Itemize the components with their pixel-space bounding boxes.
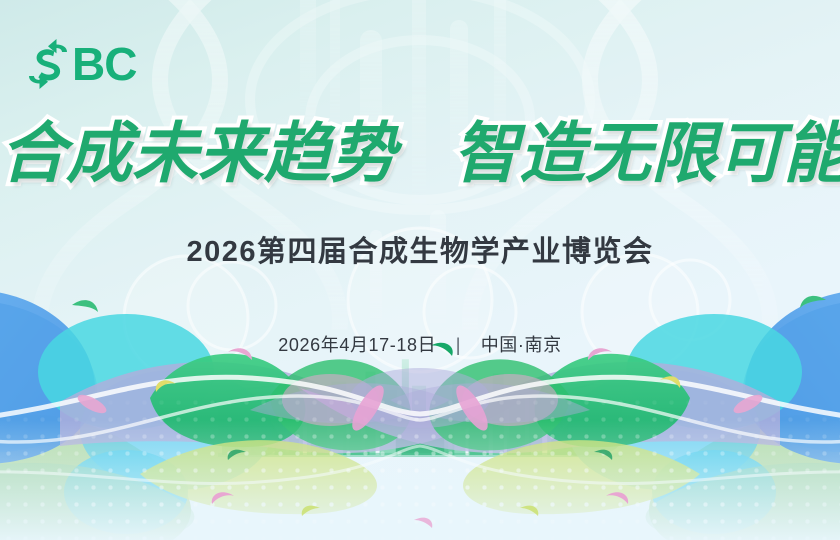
sbc-recycle-s-icon [26, 38, 70, 90]
event-dateline: 2026年4月17-18日 | 中国·南京 [0, 331, 840, 357]
page-title: 2026第四届合成生物学产业博览会 [0, 228, 840, 270]
bottom-fade-overlay [0, 420, 840, 540]
dateline-separator: | [442, 335, 475, 356]
poster-headline: 合成未来趋势 智造无限可能 [0, 122, 840, 188]
headline-line-1: 合成未来趋势 [0, 122, 396, 188]
event-date: 2026年4月17-18日 [278, 335, 436, 355]
headline-line-2: 智造无限可能 [453, 122, 840, 188]
sbc-wordmark: BC [72, 41, 136, 87]
sbc-logo[interactable]: BC [26, 38, 136, 90]
event-poster: BC 合成未来趋势 智造无限可能 2026第四届合成生物学产业博览会 2026年… [0, 0, 840, 540]
event-location: 中国·南京 [481, 335, 562, 355]
